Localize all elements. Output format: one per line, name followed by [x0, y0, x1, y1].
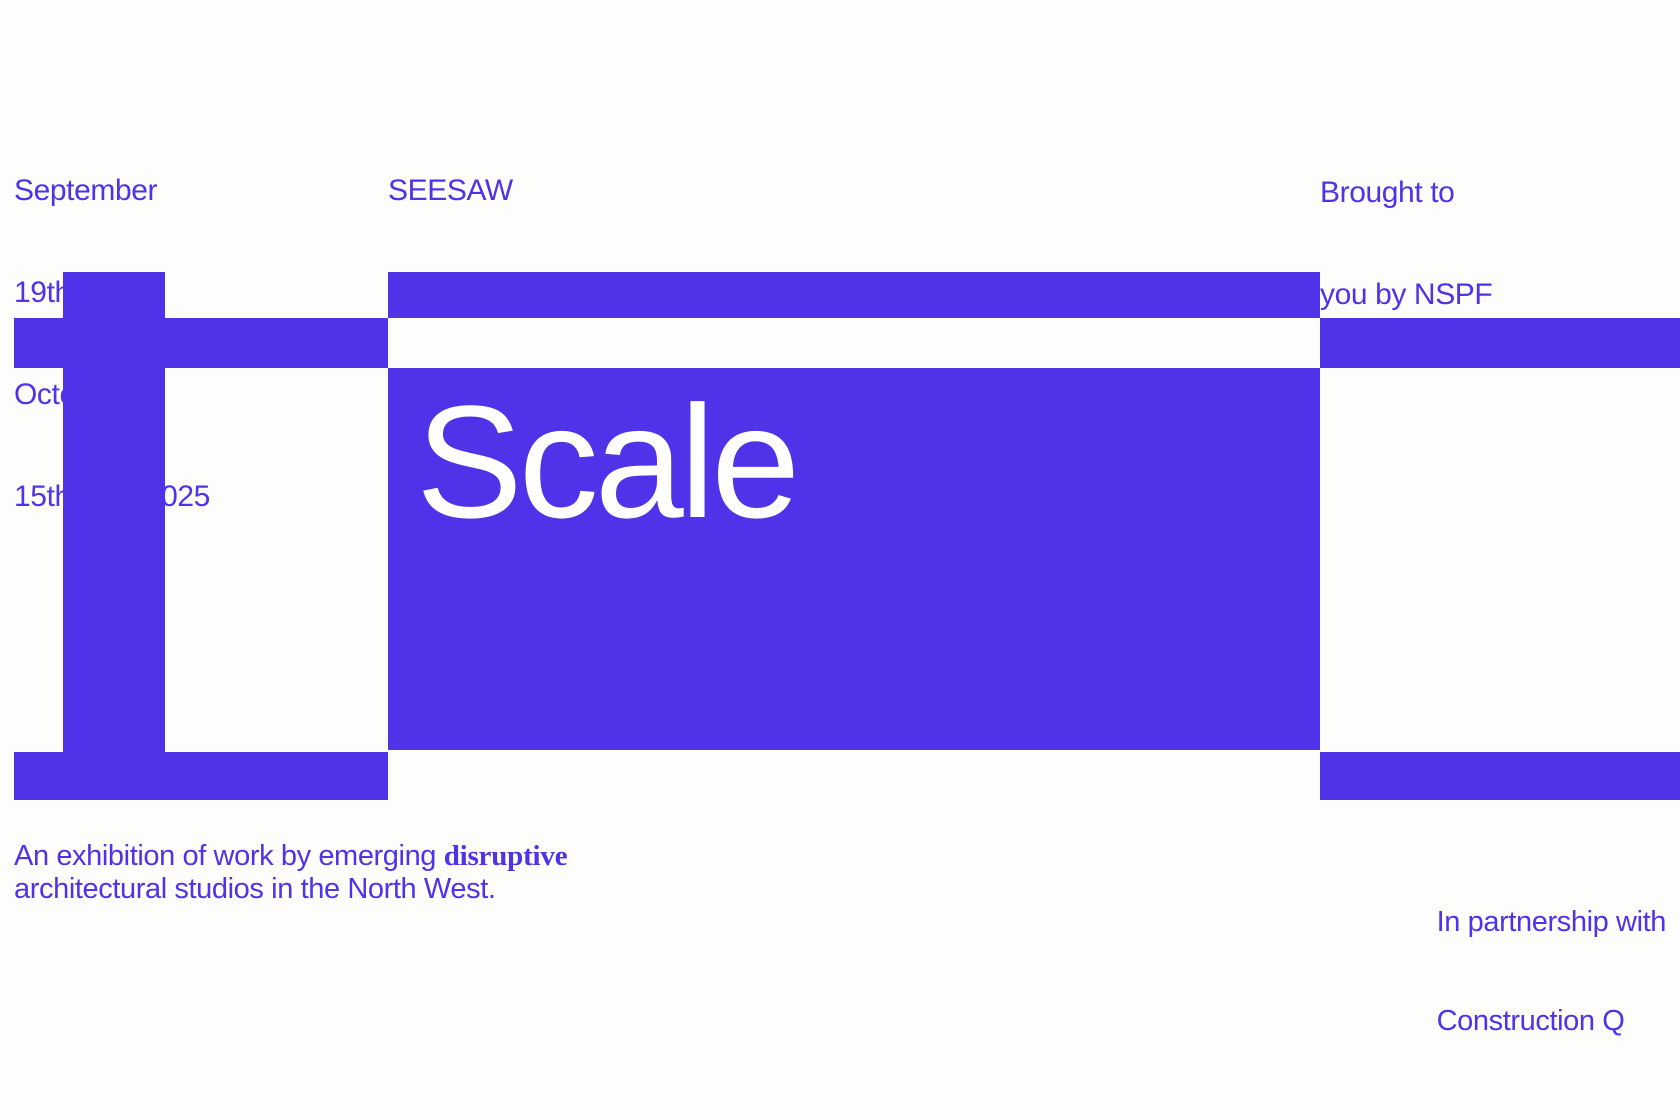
description-part-2: architectural studios in the North West. [14, 873, 496, 905]
description-part-1: An exhibition of work by emerging [14, 840, 444, 872]
partnership-line-1: In partnership with [1437, 906, 1666, 939]
credit-line-2: you by NSPF [1320, 278, 1492, 312]
venue-name: SEESAW [388, 174, 626, 208]
grid-bar-bottom-far-left [14, 752, 63, 800]
grid-bar-bottom-right [1320, 752, 1680, 800]
date-line-1: September [14, 174, 210, 208]
page-title: Scale [416, 377, 796, 547]
grid-bar-bottom-mid [153, 752, 388, 800]
partnership-line-2: Construction Q [1437, 1005, 1666, 1038]
credit-line-1: Brought to [1320, 176, 1492, 210]
partnership-credit: In partnership with Construction Q [1437, 840, 1666, 1104]
hero-block-notch [388, 318, 1320, 368]
grid-bar-stripe-far-left [14, 318, 63, 368]
grid-bar-vertical-left [63, 272, 165, 800]
description-emphasis: disruptive [444, 840, 568, 872]
grid-bar-stripe-right [1320, 318, 1680, 368]
poster-canvas: September 19th — October 15th2025 SEESAW… [0, 0, 1680, 1120]
exhibition-description: An exhibition of work by emerging disrup… [14, 840, 654, 906]
grid-bar-stripe-mid-left [153, 318, 388, 368]
